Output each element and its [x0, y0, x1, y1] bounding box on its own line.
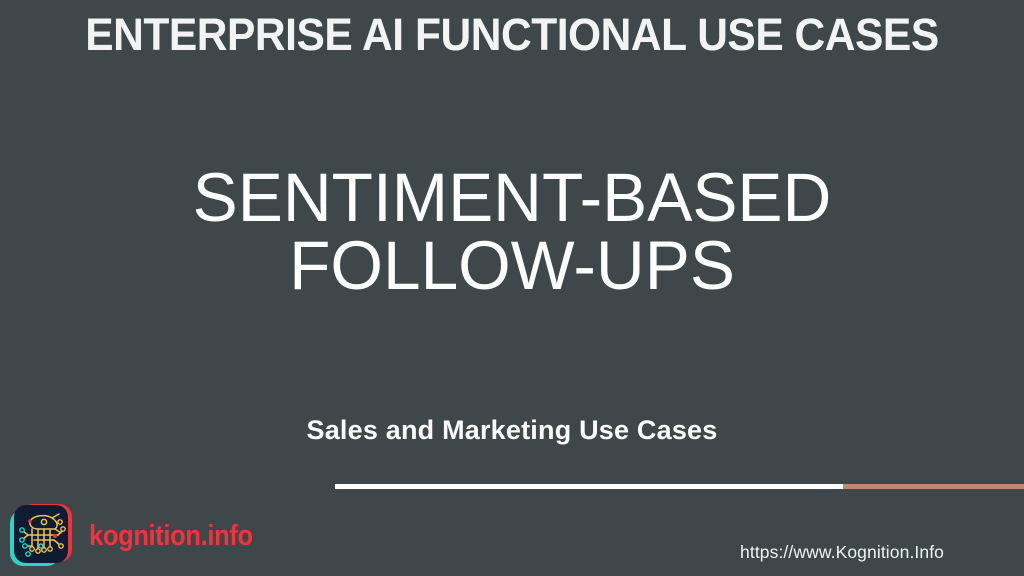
title-line-1: SENTIMENT-BASED: [10, 164, 1014, 232]
divider-segment-white: [335, 484, 843, 489]
page-title: SENTIMENT-BASED FOLLOW-UPS: [0, 164, 1024, 300]
title-line-2: FOLLOW-UPS: [10, 232, 1014, 300]
slide-subtitle: Sales and Marketing Use Cases: [0, 414, 1024, 446]
brand-logo[interactable]: kognition.info: [8, 500, 228, 572]
brand-wordmark: kognition.info: [89, 521, 253, 551]
divider-segment-accent: [843, 484, 1024, 489]
presentation-slide: ENTERPRISE AI FUNCTIONAL USE CASES SENTI…: [0, 0, 1024, 576]
divider: [335, 484, 1024, 489]
footer-website-url[interactable]: https://www.Kognition.Info: [740, 541, 944, 563]
circuit-brain-icon: [8, 502, 76, 570]
slide-eyebrow-heading: ENTERPRISE AI FUNCTIONAL USE CASES: [28, 9, 996, 61]
